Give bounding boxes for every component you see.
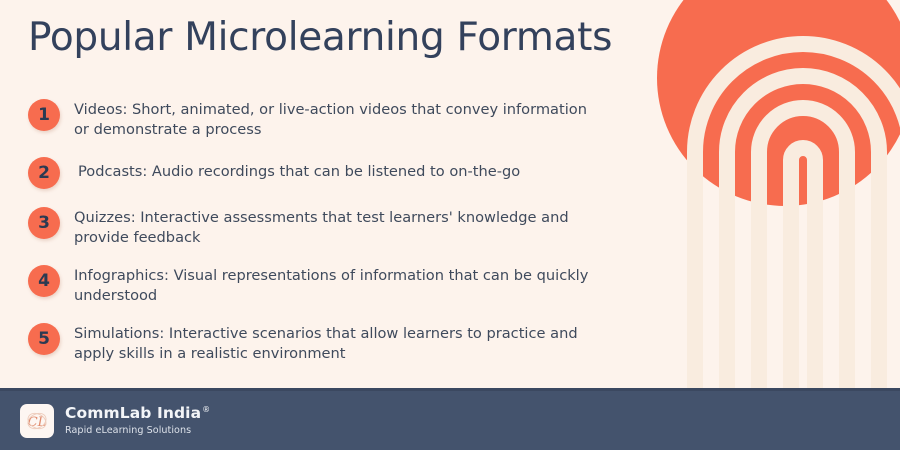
item-number-badge: 3 [28,207,60,239]
item-description: Quizzes: Interactive assessments that te… [74,206,604,248]
item-number-badge: 5 [28,323,60,355]
arc-2 [727,76,879,388]
commlab-logo-icon: CL [20,404,54,438]
item-description: Infographics: Visual representations of … [74,264,604,306]
footer-logo-text: CommLab India® Rapid eLearning Solutions [65,405,210,437]
registered-mark: ® [202,405,210,414]
slide-canvas: Popular Microlearning Formats 1 Videos: … [0,0,900,450]
list-item: 4 Infographics: Visual representations o… [28,264,613,306]
brand-label: CommLab India [65,405,201,423]
decorative-graphic [640,0,900,388]
arc-4 [791,148,815,388]
brand-tagline: Rapid eLearning Solutions [65,425,210,436]
item-number-badge: 1 [28,99,60,131]
item-description: Podcasts: Audio recordings that can be l… [78,156,520,182]
item-number-badge: 2 [28,157,60,189]
footer-bar: CL CommLab India® Rapid eLearning Soluti… [0,388,900,450]
list-item: 2 Podcasts: Audio recordings that can be… [28,156,613,190]
arc-1 [695,44,900,388]
arc-3 [759,108,847,388]
list-item: 3 Quizzes: Interactive assessments that … [28,206,613,248]
item-description: Videos: Short, animated, or live-action … [74,98,604,140]
orange-circle-icon [657,0,900,206]
item-description: Simulations: Interactive scenarios that … [74,322,604,364]
page-title: Popular Microlearning Formats [28,14,612,62]
list-item: 5 Simulations: Interactive scenarios tha… [28,322,613,364]
formats-list: 1 Videos: Short, animated, or live-actio… [28,98,613,364]
list-item: 1 Videos: Short, animated, or live-actio… [28,98,613,140]
brand-name: CommLab India® [65,405,210,423]
item-number-badge: 4 [28,265,60,297]
